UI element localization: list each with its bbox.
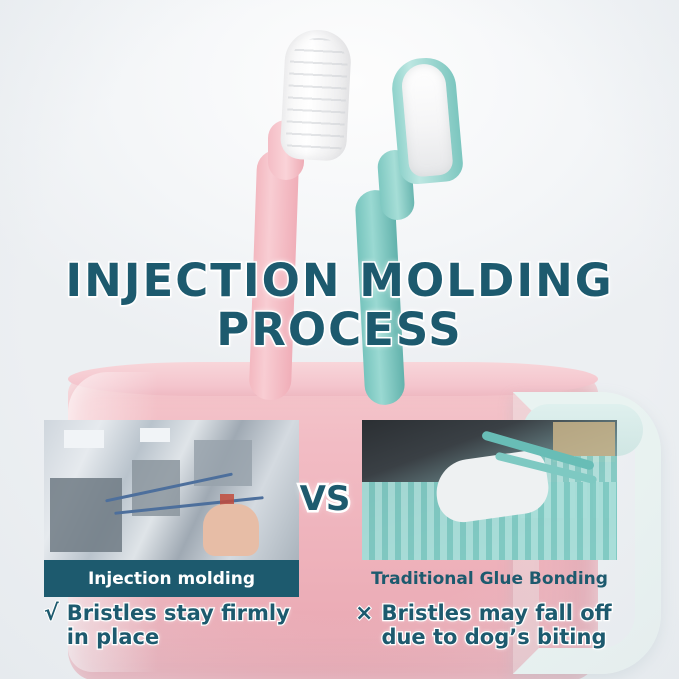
- factory-machine-part: [50, 478, 122, 552]
- factory-lamp: [140, 428, 170, 442]
- benefit-bullets: √ Bristles stay firmly in place × Bristl…: [0, 601, 679, 679]
- left-caption-text: Injection molding: [88, 569, 255, 589]
- bullet-right-text: Bristles may fall off due to dog’s bitin…: [381, 601, 611, 649]
- bullet-right-line-1: Bristles may fall off: [381, 601, 611, 625]
- bullet-left-line-1: Bristles stay firmly: [67, 601, 290, 625]
- bullet-right: × Bristles may fall off due to dog’s bit…: [355, 601, 655, 649]
- comparison-panel-left: Injection molding: [44, 420, 299, 597]
- vs-badge: VS: [288, 470, 362, 528]
- cross-mark-icon: ×: [355, 601, 373, 626]
- left-caption-bar: Injection molding: [44, 560, 299, 597]
- product-infographic: INJECTION MOLDING PROCESS Injection mold…: [0, 0, 679, 679]
- check-mark-icon: √: [44, 601, 59, 626]
- operator-hand: [203, 504, 259, 556]
- factory-lamp: [64, 430, 104, 448]
- glue-bonding-photo: [362, 420, 617, 560]
- right-caption-text: Traditional Glue Bonding: [371, 569, 608, 589]
- bullet-left: √ Bristles stay firmly in place: [44, 601, 324, 649]
- right-caption-bar: Traditional Glue Bonding: [362, 560, 617, 597]
- title-line-2: PROCESS: [0, 307, 679, 352]
- bullet-left-line-2: in place: [67, 625, 160, 649]
- injection-molding-photo: [44, 420, 299, 560]
- comparison-panel-right: Traditional Glue Bonding: [362, 420, 617, 597]
- page-title: INJECTION MOLDING PROCESS: [0, 258, 679, 352]
- bullet-left-text: Bristles stay firmly in place: [67, 601, 290, 649]
- title-line-1: INJECTION MOLDING: [0, 258, 679, 303]
- bullet-right-line-2: due to dog’s biting: [381, 625, 606, 649]
